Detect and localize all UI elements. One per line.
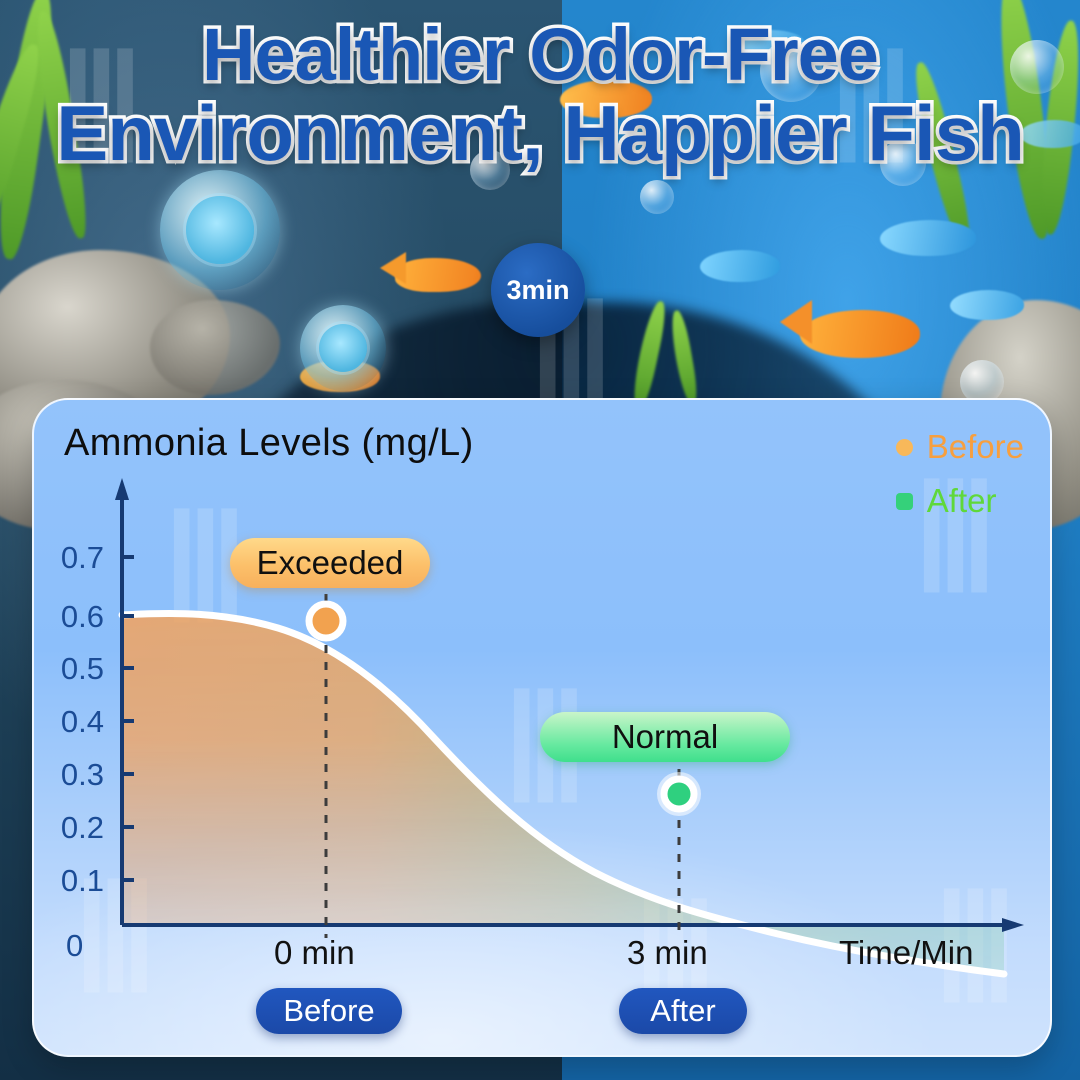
microbe-icon [160,170,280,290]
tag-after-label: After [650,993,715,1029]
title-line-2: Environment, Happier Fish [0,95,1080,172]
y-tick-label: 0.6 [32,599,104,635]
y-tick-label: 0.5 [32,651,104,687]
chart-area-fill [122,613,1004,974]
fish-orange [395,258,481,292]
annotation-normal-label: Normal [612,718,718,756]
marker-before[interactable] [309,604,343,638]
poster: Ⅲ Ⅲ Ⅲ Healthier Odor-Free Environment, H… [0,0,1080,1080]
x-axis-arrow-icon [1002,918,1024,932]
y-axis-arrow-icon [115,478,129,500]
fish-tail [780,300,812,344]
tag-after-button[interactable]: After [619,988,747,1034]
y-tick-label: 0.1 [32,863,104,899]
marker-after[interactable] [664,779,694,809]
annotation-exceeded: Exceeded [230,538,430,588]
y-tick-label: 0.2 [32,810,104,846]
axis-origin-label: 0 [66,928,83,964]
annotation-normal: Normal [540,712,790,762]
x-axis-title: Time/Min [839,934,973,972]
timer-badge-label: 3min [506,275,569,306]
poster-title: Healthier Odor-Free Environment, Happier… [0,18,1080,172]
bubble [640,180,674,214]
timer-badge: 3min [491,243,585,337]
x-tick-label-before: 0 min [274,934,355,972]
microbe-icon [300,305,386,391]
y-tick-label: 0.7 [32,540,104,576]
y-tick-label: 0.3 [32,757,104,793]
x-tick-label-after: 3 min [627,934,708,972]
y-tick-label: 0.4 [32,704,104,740]
tag-before-label: Before [283,993,374,1029]
title-line-1: Healthier Odor-Free [202,13,878,96]
fish-orange [800,310,920,358]
fish-blue [880,220,976,256]
tag-before-button[interactable]: Before [256,988,402,1034]
fish-blue [700,250,780,282]
fish-tail [380,252,406,284]
annotation-exceeded-label: Exceeded [257,544,404,582]
fish-blue [950,290,1024,320]
chart-card: Ⅲ Ⅲ Ⅲ Ⅲ Ⅲ Ⅲ Ammonia Levels (mg/L) Before… [32,398,1052,1057]
